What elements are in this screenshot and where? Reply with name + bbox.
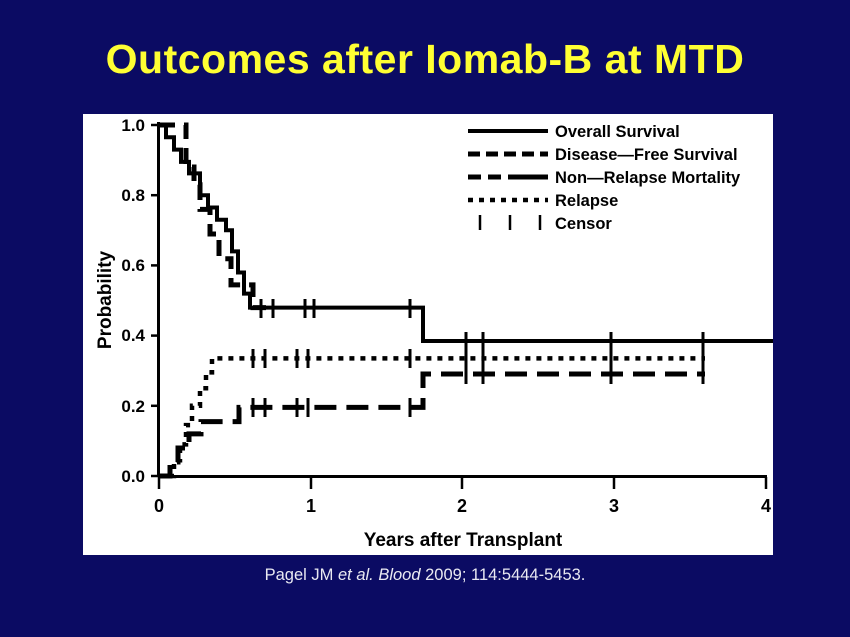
x-tick-label-1: 1 [306,496,316,516]
y-tick-label-0.0: 0.0 [121,467,145,486]
citation: Pagel JM et al. Blood 2009; 114:5444-545… [0,566,850,585]
kaplan-meier-chart: 1.0 0.8 0.6 0.4 0.2 0.0 0 1 2 3 [83,114,773,555]
legend-label-disease-free-survival: Disease—Free Survival [555,146,738,164]
citation-rest: 2009; 114:5444-5453. [425,566,585,584]
legend-item-censor: Censor [480,215,612,233]
legend-item-disease-free-survival: Disease—Free Survival [468,146,738,164]
legend-label-non-relapse-mortality: Non—Relapse Mortality [555,169,741,187]
series-disease-free-survival [159,125,266,308]
legend-label-censor: Censor [555,215,612,233]
y-axis-tick-labels: 1.0 0.8 0.6 0.4 0.2 0.0 [121,116,145,486]
x-tick-label-0: 0 [154,496,164,516]
x-axis-label: Years after Transplant [364,530,563,551]
y-tick-label-0.6: 0.6 [121,256,145,275]
y-axis-label: Probability [95,250,116,349]
y-tick-label-0.4: 0.4 [121,326,145,345]
legend-item-relapse: Relapse [468,192,618,210]
y-axis-ticks [151,125,158,476]
figure-panel: 1.0 0.8 0.6 0.4 0.2 0.0 0 1 2 3 [83,114,773,555]
series-non-relapse-mortality [159,365,705,476]
legend-item-overall-survival: Overall Survival [468,123,680,141]
x-axis-tick-labels: 0 1 2 3 4 [154,496,771,516]
citation-author: Pagel JM [265,566,334,584]
page-title: Outcomes after Iomab-B at MTD [0,36,850,83]
x-tick-label-3: 3 [609,496,619,516]
legend-label-overall-survival: Overall Survival [555,123,680,141]
x-tick-label-2: 2 [457,496,467,516]
y-tick-label-0.2: 0.2 [121,397,145,416]
citation-journal: et al. Blood [338,566,421,584]
y-tick-label-1.0: 1.0 [121,116,145,135]
x-axis-ticks [159,477,766,489]
chart-legend: Overall Survival Disease—Free Survival N… [468,123,741,233]
dfs-line [159,125,266,308]
slide-root: Outcomes after Iomab-B at MTD 1.0 [0,0,850,637]
legend-label-relapse: Relapse [555,192,618,210]
x-tick-label-4: 4 [761,496,771,516]
nrm-line [159,374,705,476]
y-tick-label-0.8: 0.8 [121,186,145,205]
legend-swatch-censor [480,215,540,230]
legend-item-non-relapse-mortality: Non—Relapse Mortality [468,169,741,187]
